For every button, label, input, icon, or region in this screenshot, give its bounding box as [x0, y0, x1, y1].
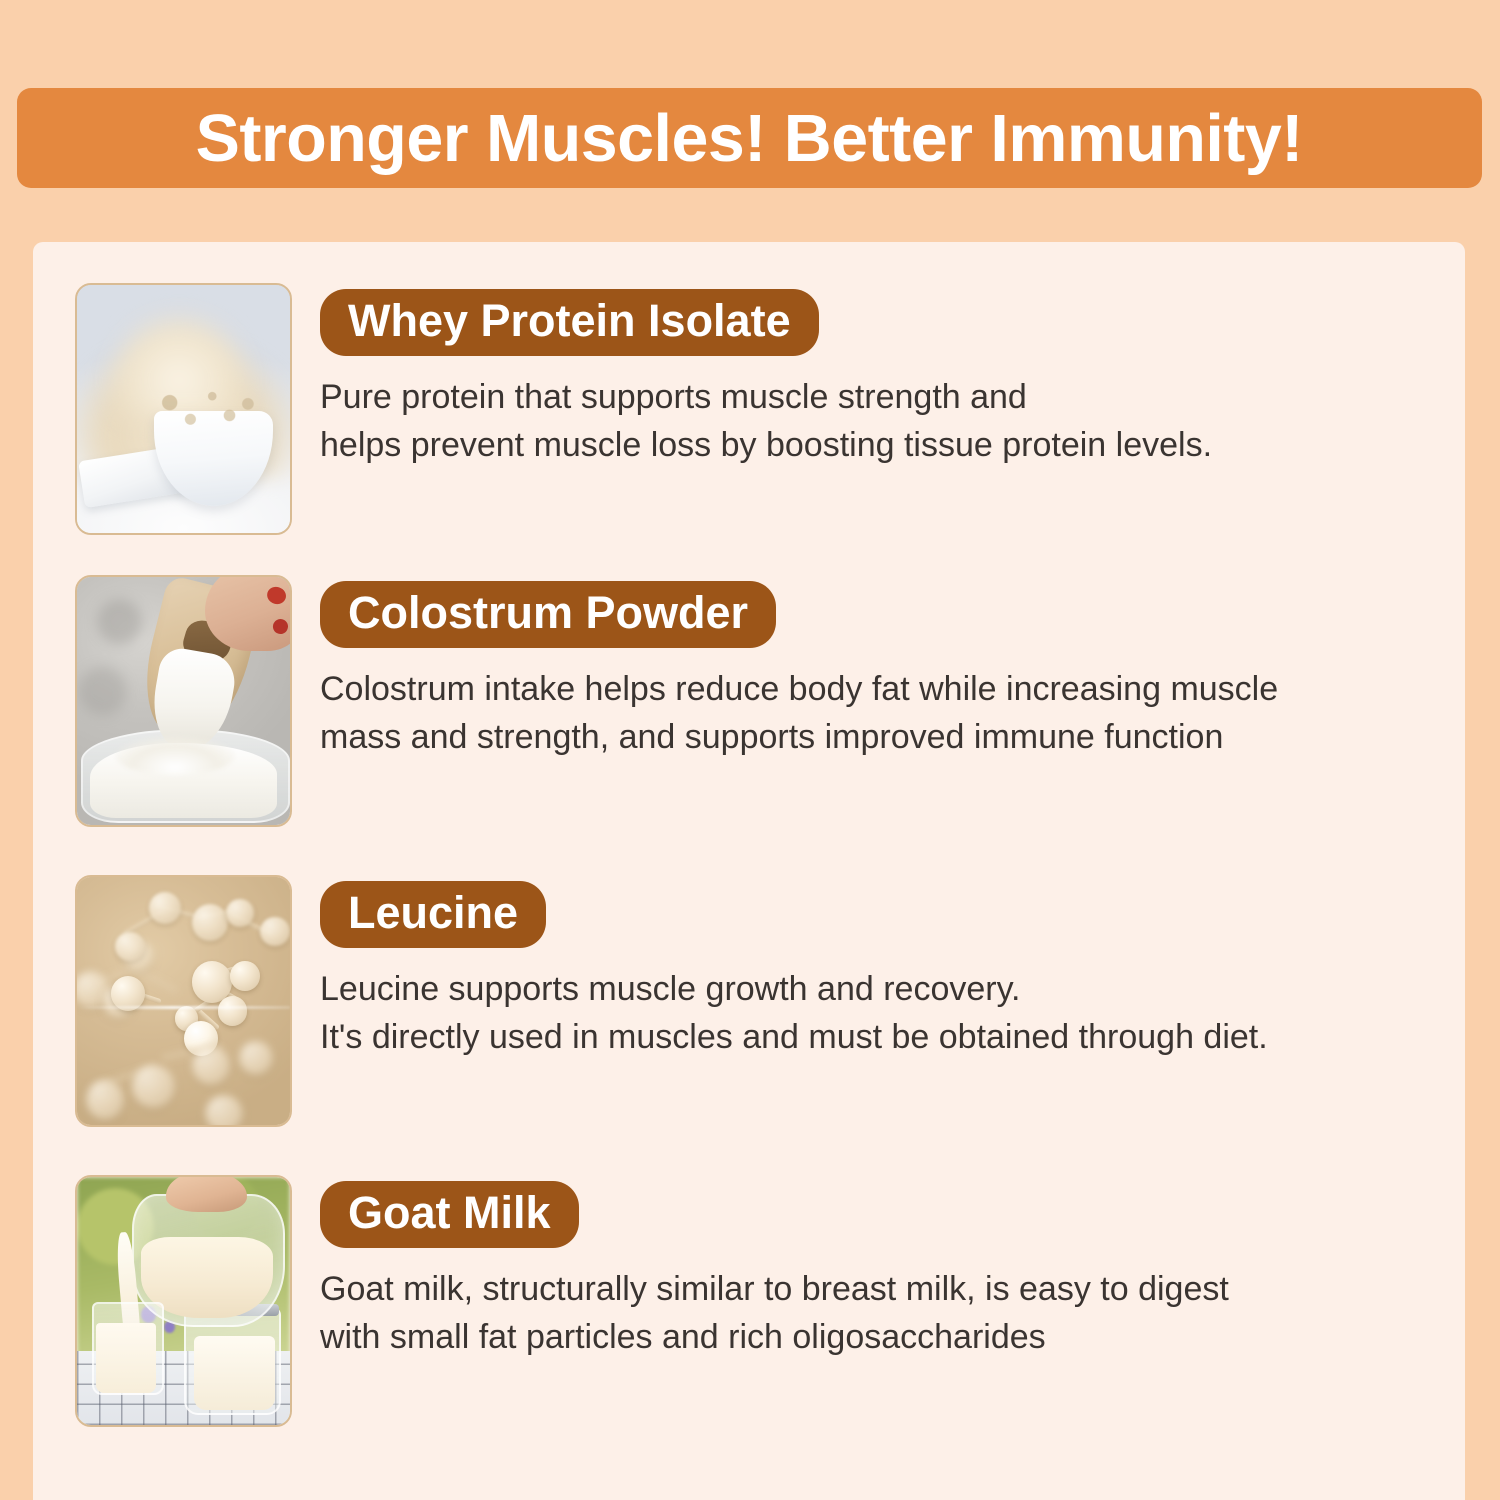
content-panel: Whey Protein Isolate Pure protein that s…: [33, 242, 1465, 1500]
infographic-page: Stronger Muscles! Better Immunity! Whey …: [0, 0, 1500, 1500]
ingredient-description: Leucine supports muscle growth and recov…: [320, 965, 1435, 1062]
ingredient-text: Leucine Leucine supports muscle growth a…: [320, 875, 1435, 1062]
ingredient-card: Leucine Leucine supports muscle growth a…: [75, 875, 1435, 1127]
ingredient-title: Leucine: [320, 881, 546, 948]
ingredient-text: Colostrum Powder Colostrum intake helps …: [320, 575, 1435, 762]
ingredient-card: Whey Protein Isolate Pure protein that s…: [75, 283, 1435, 535]
whey-protein-scoop-photo: [75, 283, 292, 535]
goat-milk-pour-photo: [75, 1175, 292, 1427]
ingredient-title: Goat Milk: [320, 1181, 579, 1248]
leucine-molecule-illustration: [75, 875, 292, 1127]
ingredient-text: Goat Milk Goat milk, structurally simila…: [320, 1175, 1435, 1362]
ingredient-description: Pure protein that supports muscle streng…: [320, 373, 1435, 470]
ingredient-text: Whey Protein Isolate Pure protein that s…: [320, 283, 1435, 470]
header-banner: Stronger Muscles! Better Immunity!: [17, 88, 1482, 188]
ingredient-title: Whey Protein Isolate: [320, 289, 819, 356]
ingredient-card: Goat Milk Goat milk, structurally simila…: [75, 1175, 1435, 1427]
colostrum-powder-scoop-photo: [75, 575, 292, 827]
ingredient-card: Colostrum Powder Colostrum intake helps …: [75, 575, 1435, 827]
ingredient-description: Colostrum intake helps reduce body fat w…: [320, 665, 1435, 762]
page-title: Stronger Muscles! Better Immunity!: [196, 105, 1303, 172]
ingredient-description: Goat milk, structurally similar to breas…: [320, 1265, 1435, 1362]
ingredient-title: Colostrum Powder: [320, 581, 776, 648]
